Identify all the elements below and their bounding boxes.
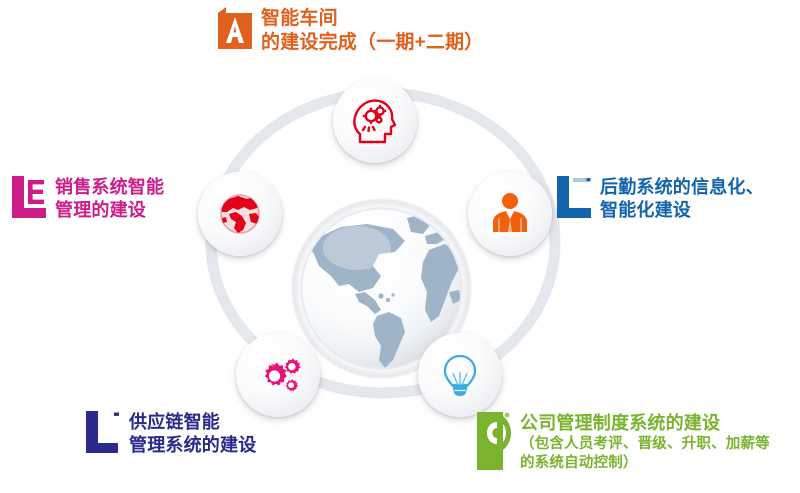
label-a[interactable]: 智能车间 的建设完成（一期+二期） [218,7,484,56]
mark-letter-e [12,176,46,216]
mark-letter-c [477,412,511,452]
diagram-canvas: 智能车间 的建设完成（一期+二期） 后勤系统的信息化、 智能化建设 [0,0,800,493]
node-circle-c[interactable] [418,333,502,417]
head-with-gears-icon [348,94,402,148]
label-b[interactable]: 后勤系统的信息化、 智能化建设 [557,176,764,222]
businessman-person-icon [486,190,534,238]
globe-red-icon [216,190,264,238]
label-b-text: 后勤系统的信息化、 智能化建设 [600,176,764,222]
label-c[interactable]: 公司管理制度系统的建设 （包含人员考评、晋级、升职、加薪等 的系统自动控制） [477,412,770,472]
node-circle-d[interactable] [236,333,320,417]
mark-letter-d [86,411,120,451]
label-c-text: 公司管理制度系统的建设 （包含人员考评、晋级、升职、加薪等 的系统自动控制） [520,412,770,472]
label-e[interactable]: 销售系统智能 管理的建设 [12,176,164,222]
mark-letter-b [557,176,591,216]
label-a-text: 智能车间 的建设完成（一期+二期） [261,7,484,56]
gears-icon [253,350,303,400]
label-d-text: 供应链智能 管理系统的建设 [129,411,256,457]
node-circle-e[interactable] [198,172,282,256]
label-e-text: 销售系统智能 管理的建设 [55,176,164,222]
mark-letter-a [218,7,252,47]
node-circle-a[interactable] [333,79,417,163]
node-circle-b[interactable] [468,172,552,256]
lightbulb-icon [436,351,484,399]
label-d[interactable]: 供应链智能 管理系统的建设 [86,411,256,457]
